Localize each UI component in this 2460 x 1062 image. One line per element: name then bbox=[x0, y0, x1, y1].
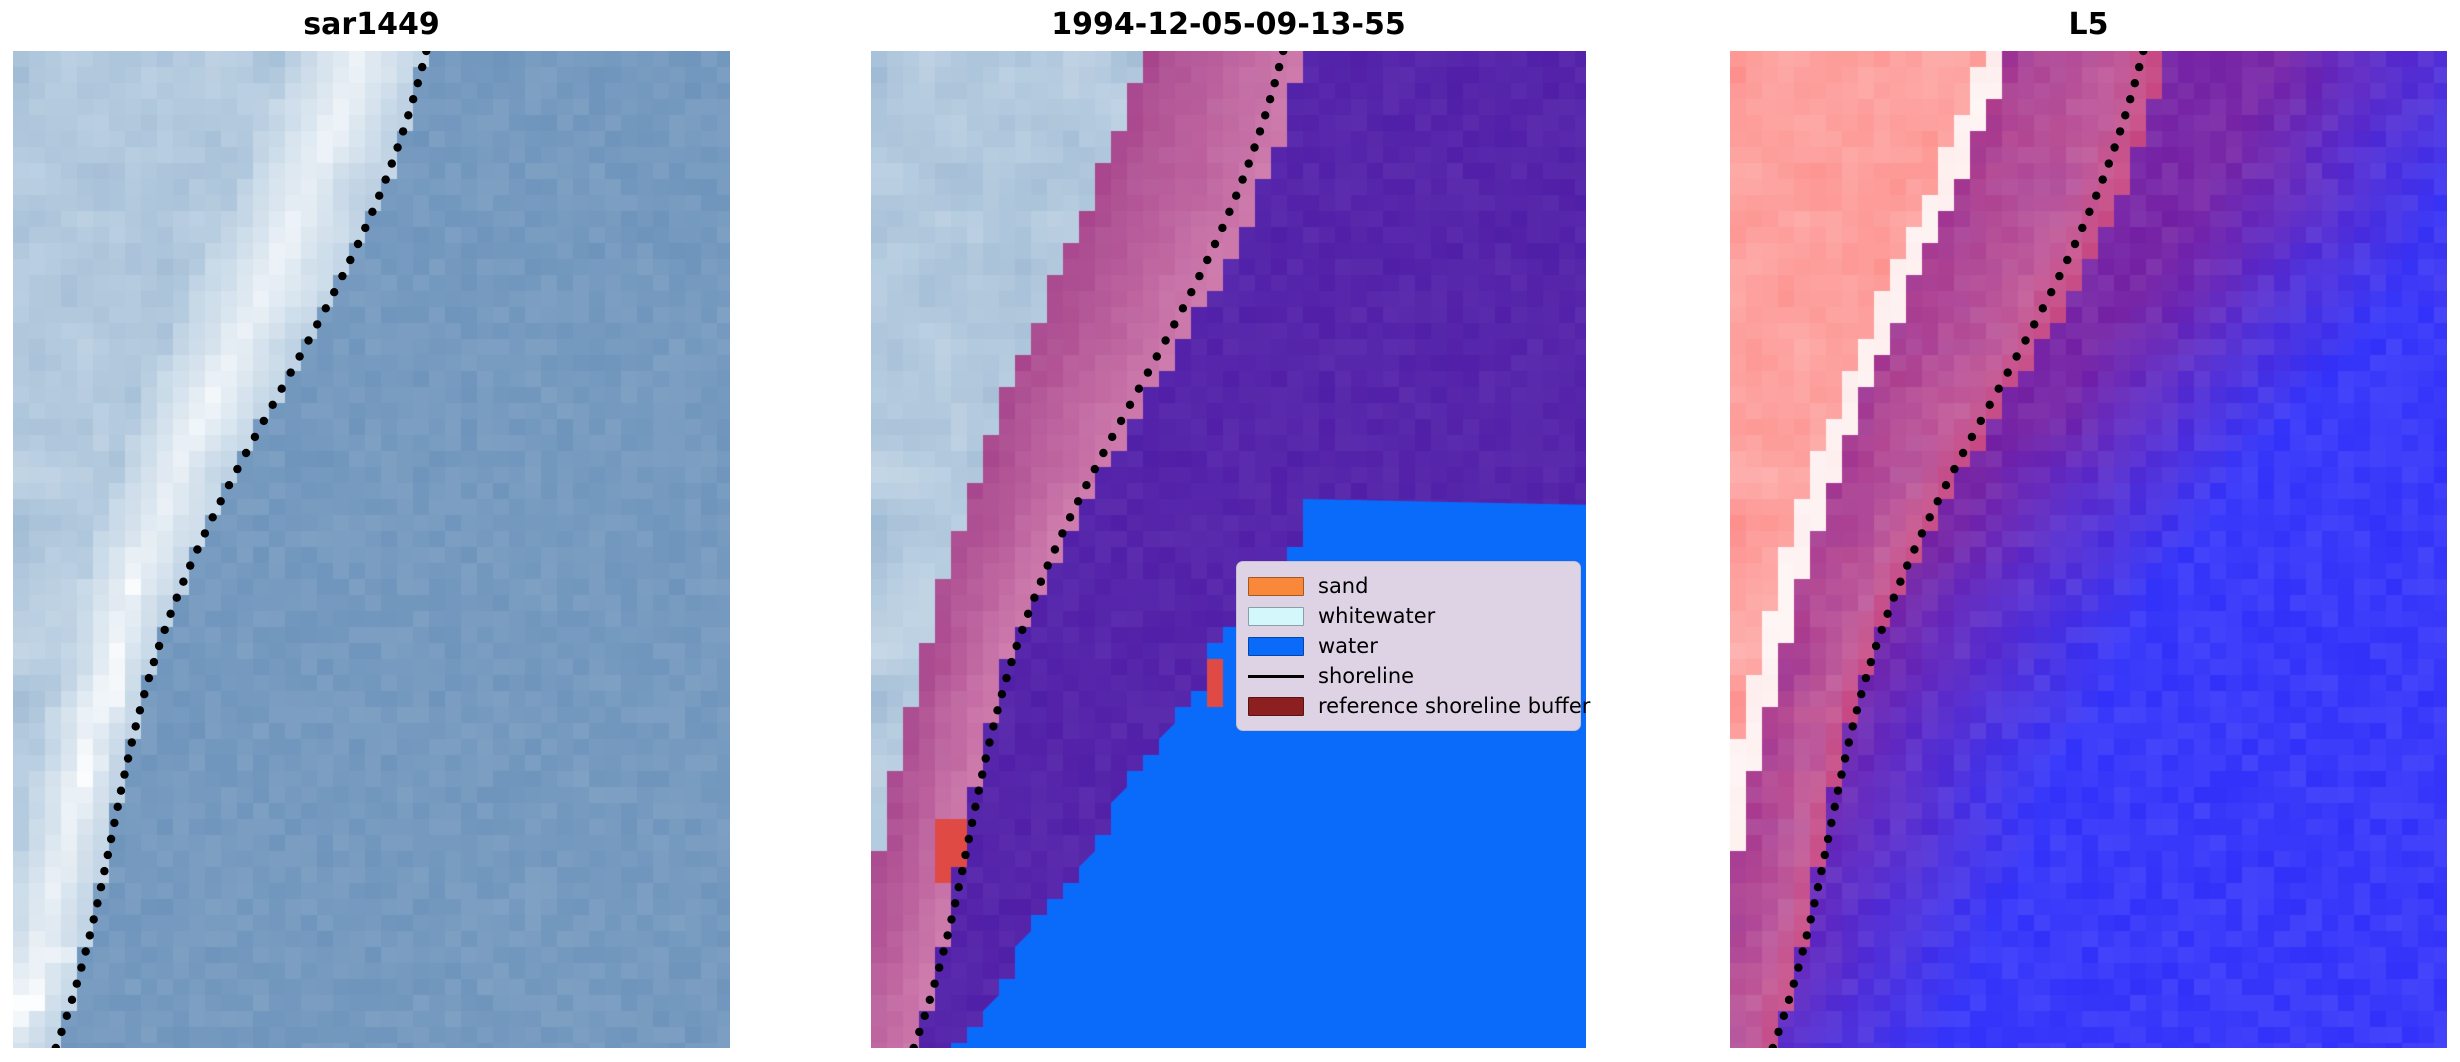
figure-canvas: sar1449 1994-12-05-09-13-55 L5 sand whit… bbox=[0, 0, 2460, 1062]
legend-box[interactable]: sand whitewater water shoreline referenc… bbox=[1236, 561, 1581, 731]
legend-label-sand: sand bbox=[1318, 576, 1368, 597]
image-panel-sar[interactable] bbox=[13, 51, 730, 1048]
legend-item-whitewater: whitewater bbox=[1248, 601, 1569, 631]
legend-swatch-whitewater bbox=[1248, 607, 1304, 626]
legend-item-water: water bbox=[1248, 631, 1569, 661]
legend-swatch-shoreline bbox=[1248, 675, 1304, 678]
legend-label-shoreline: shoreline bbox=[1318, 666, 1414, 687]
legend-item-shoreline: shoreline bbox=[1248, 661, 1569, 691]
panel-title-sar: sar1449 bbox=[13, 6, 730, 44]
l5-raster-image bbox=[1730, 51, 2447, 1048]
image-panel-classified[interactable] bbox=[871, 51, 1586, 1048]
image-panel-l5[interactable] bbox=[1730, 51, 2447, 1048]
legend-swatch-reference-shoreline-buffer bbox=[1248, 697, 1304, 716]
panel-title-classified: 1994-12-05-09-13-55 bbox=[871, 6, 1586, 44]
legend-swatch-sand bbox=[1248, 577, 1304, 596]
legend-item-sand: sand bbox=[1248, 571, 1569, 601]
legend-label-reference-shoreline-buffer: reference shoreline buffer bbox=[1318, 696, 1590, 717]
legend-label-whitewater: whitewater bbox=[1318, 606, 1435, 627]
legend-item-reference-shoreline-buffer: reference shoreline buffer bbox=[1248, 691, 1569, 721]
legend-label-water: water bbox=[1318, 636, 1378, 657]
classified-raster-image bbox=[871, 51, 1586, 1048]
sar-raster-image bbox=[13, 51, 730, 1048]
legend-swatch-water bbox=[1248, 637, 1304, 656]
panel-title-l5: L5 bbox=[1730, 6, 2447, 44]
